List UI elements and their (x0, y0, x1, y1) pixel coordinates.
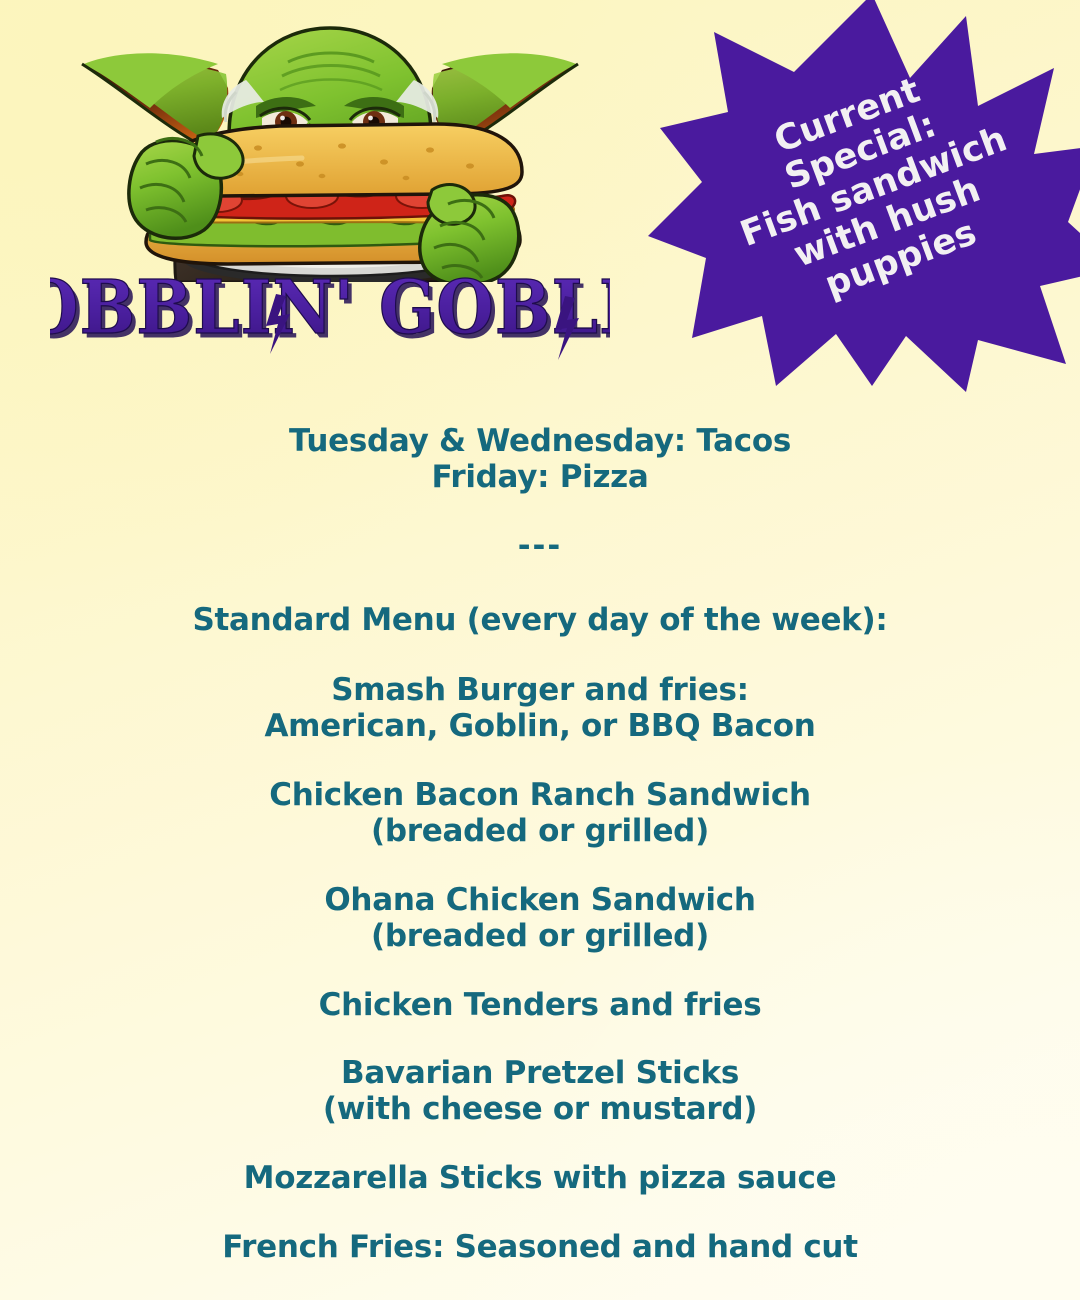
section-divider: --- (0, 529, 1080, 565)
menu-item-line: French Fries: Seasoned and hand cut (0, 1230, 1080, 1266)
menu-item-smash-burger: Smash Burger and fries: American, Goblin… (0, 673, 1080, 745)
menu-item-french-fries: French Fries: Seasoned and hand cut (0, 1230, 1080, 1266)
menu-item-chicken-tenders: Chicken Tenders and fries (0, 988, 1080, 1024)
menu-item-line: American, Goblin, or BBQ Bacon (0, 709, 1080, 745)
menu-content: Tuesday & Wednesday: Tacos Friday: Pizza… (0, 424, 1080, 1299)
menu-item-line: Bavarian Pretzel Sticks (0, 1056, 1080, 1092)
menu-item-ohana-chicken-sandwich: Ohana Chicken Sandwich (breaded or grill… (0, 883, 1080, 955)
menu-item-chicken-bacon-ranch-sandwich: Chicken Bacon Ranch Sandwich (breaded or… (0, 778, 1080, 850)
brand-wordmark: GOBBLIN' GOBLIN GOBBLIN' GOBLIN (50, 266, 610, 361)
standard-menu-heading: Standard Menu (every day of the week): (0, 603, 1080, 639)
menu-item-line: Chicken Tenders and fries (0, 988, 1080, 1024)
menu-item-line: Mozzarella Sticks with pizza sauce (0, 1161, 1080, 1197)
brand-logo: GOBBLIN' GOBLIN GOBBLIN' GOBLIN (50, 14, 610, 364)
menu-poster: GOBBLIN' GOBLIN GOBBLIN' GOBLIN Current … (0, 0, 1080, 1300)
current-special-badge[interactable]: Current Special: Fish sandwich with hush… (648, 0, 1080, 394)
menu-item-mozzarella-sticks: Mozzarella Sticks with pizza sauce (0, 1161, 1080, 1197)
daily-special-pizza: Friday: Pizza (0, 460, 1080, 496)
menu-item-line: (with cheese or mustard) (0, 1092, 1080, 1128)
menu-item-bavarian-pretzel-sticks: Bavarian Pretzel Sticks (with cheese or … (0, 1056, 1080, 1128)
brand-wordmark-text: GOBBLIN' GOBLIN (50, 266, 610, 351)
menu-item-line: Smash Burger and fries: (0, 673, 1080, 709)
menu-item-line: Chicken Bacon Ranch Sandwich (0, 778, 1080, 814)
menu-item-line: (breaded or grilled) (0, 919, 1080, 955)
menu-item-line: Ohana Chicken Sandwich (0, 883, 1080, 919)
daily-specials-group: Tuesday & Wednesday: Tacos Friday: Pizza (0, 424, 1080, 496)
menu-item-line: (breaded or grilled) (0, 814, 1080, 850)
daily-special-tacos: Tuesday & Wednesday: Tacos (0, 424, 1080, 460)
goblin-eating-sandwich-icon (50, 14, 610, 282)
starburst-shape-icon (648, 0, 1080, 394)
